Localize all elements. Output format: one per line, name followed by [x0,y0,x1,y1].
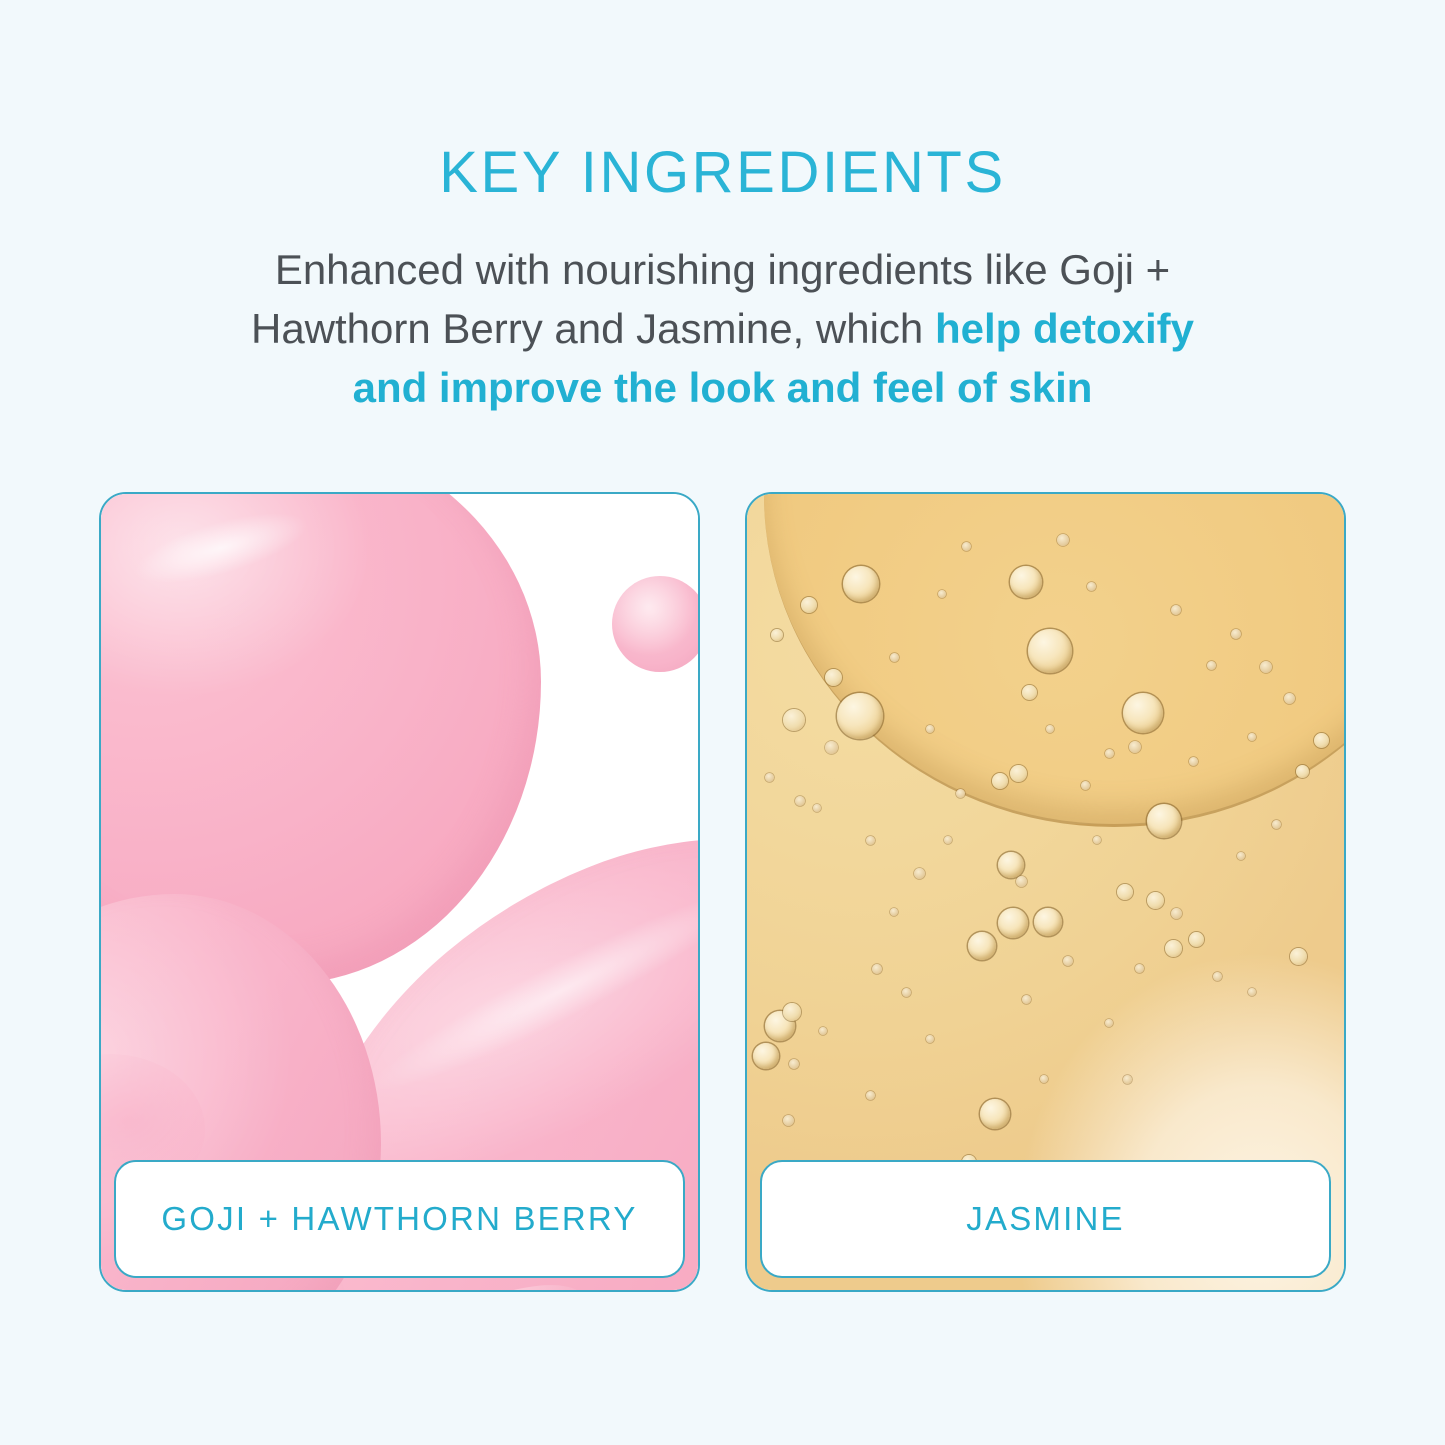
oil-bubble [1129,741,1141,753]
oil-bubble [1207,661,1216,670]
description-line-2-plain: Hawthorn Berry and Jasmine, which [251,305,935,352]
oil-bubble [1260,661,1272,673]
oil-bubble [1189,757,1198,766]
oil-bubble [1040,1075,1048,1083]
oil-bubble [783,1115,794,1126]
oil-bubble [1171,908,1182,919]
oil-bubble [1248,733,1256,741]
ingredient-card-list: GOJI + HAWTHORN BERRY JASMINE [99,492,1346,1292]
oil-bubble [1010,765,1027,782]
oil-bubble [1147,804,1181,838]
oil-bubble [765,773,774,782]
oil-bubble [783,709,805,731]
oil-bubble [1123,693,1163,733]
oil-bubble [938,590,946,598]
page-title: KEY INGREDIENTS [0,143,1445,204]
oil-bubble [1028,629,1072,673]
description-line-1: Enhanced with nourishing ingredients lik… [275,246,1170,293]
description-line-3-accent: and improve the look and feel of skin [353,364,1093,411]
oil-bubble [1284,693,1295,704]
oil-bubble [1022,685,1037,700]
oil-bubble [866,1091,875,1100]
oil-bubble [801,597,817,613]
oil-bubble [956,789,965,798]
ingredient-card-goji-hawthorn-berry[interactable]: GOJI + HAWTHORN BERRY [99,492,700,1292]
oil-bubble [1135,964,1144,973]
oil-bubble [1296,765,1309,778]
oil-bubble [944,836,952,844]
oil-bubble [1016,876,1027,887]
card-label-panel: JASMINE [760,1160,1331,1278]
oil-bubble [926,725,934,733]
oil-bubble [1189,932,1204,947]
oil-bubble [998,852,1024,878]
oil-bubble [962,542,971,551]
oil-bubble [890,908,898,916]
oil-bubble [1248,988,1256,996]
oil-bubble [1123,1075,1132,1084]
oil-bubble [783,1003,801,1021]
oil-bubble [1105,749,1114,758]
oil-bubble [968,932,996,960]
oil-bubble [1290,948,1307,965]
oil-bubble [1147,892,1164,909]
key-ingredients-infographic: KEY INGREDIENTS Enhanced with nourishing… [0,0,1445,1445]
oil-bubble [771,629,783,641]
oil-bubble [890,653,899,662]
oil-bubble [813,804,821,812]
oil-bubble [1093,836,1101,844]
oil-bubble [1117,884,1133,900]
ingredient-card-jasmine[interactable]: JASMINE [745,492,1346,1292]
oil-bubble [1022,995,1031,1004]
oil-bubble [992,773,1008,789]
card-label-panel: GOJI + HAWTHORN BERRY [114,1160,685,1278]
oil-bubble [789,1059,799,1069]
oil-bubble [795,796,805,806]
oil-bubble [998,908,1028,938]
oil-bubble [1237,852,1245,860]
ingredient-label: GOJI + HAWTHORN BERRY [161,1200,637,1238]
oil-bubble [819,1027,827,1035]
oil-bubble [1171,605,1181,615]
oil-bubble [1314,733,1329,748]
oil-bubble [1010,566,1042,598]
oil-bubble [1087,582,1096,591]
oil-bubble [1231,629,1241,639]
oil-bubble [825,669,842,686]
oil-bubble [1034,908,1062,936]
oil-bubble [1046,725,1054,733]
oil-bubble [1063,956,1073,966]
oil-bubble [1081,781,1090,790]
oil-bubble [825,741,838,754]
oil-bubble [980,1099,1010,1129]
description-line-2-accent: help detoxify [935,305,1194,352]
oil-bubble [1105,1019,1113,1027]
oil-bubble [1213,972,1222,981]
oil-bubble [914,868,925,879]
oil-bubble [902,988,911,997]
oil-bubble [872,964,882,974]
description-text: Enhanced with nourishing ingredients lik… [175,240,1270,417]
oil-bubble [926,1035,934,1043]
oil-bubble [837,693,883,739]
oil-bubble [843,566,879,602]
oil-bubble [1057,534,1069,546]
oil-bubble [1165,940,1182,957]
ingredient-label: JASMINE [966,1200,1124,1238]
oil-bubble [753,1043,779,1069]
oil-bubble [866,836,875,845]
pink-blob-small-circle [612,576,698,672]
oil-bubble [1272,820,1281,829]
